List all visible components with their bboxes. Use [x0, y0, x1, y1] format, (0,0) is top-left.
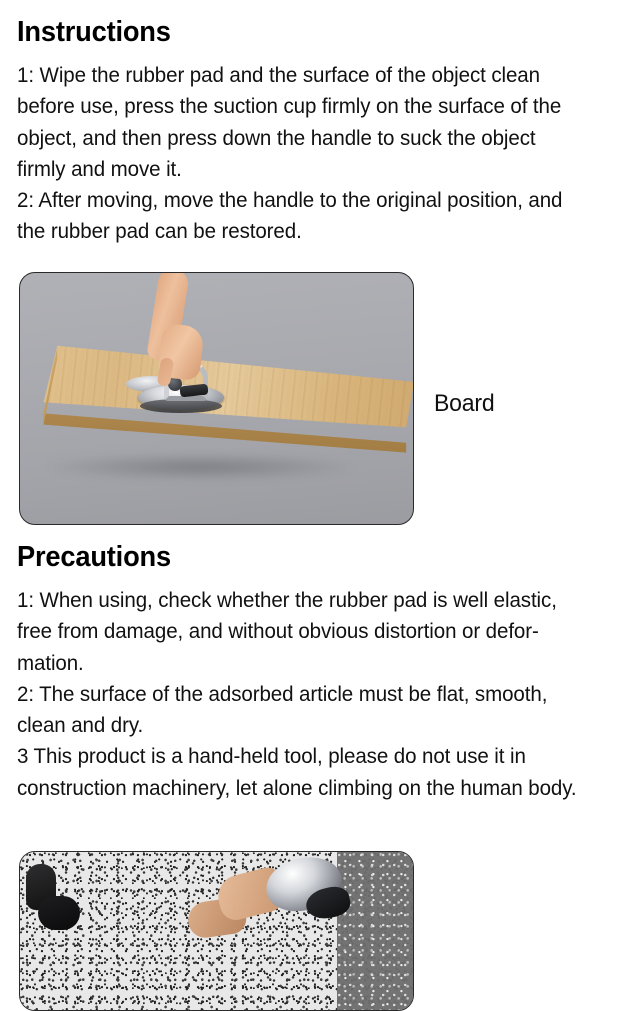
board-label: Board	[434, 392, 495, 416]
precautions-body: 1: When using, check whether the rubber …	[17, 585, 587, 804]
instructions-body: 1: Wipe the rubber pad and the surface o…	[17, 60, 587, 248]
precautions-item-1: 1: When using, check whether the rubber …	[17, 585, 587, 679]
instructions-step-1: 1: Wipe the rubber pad and the surface o…	[17, 60, 587, 185]
instructions-heading: Instructions	[17, 18, 171, 47]
board-photo-inner	[20, 273, 413, 524]
suction-cup-lifting-wooden-board-photo	[19, 272, 414, 525]
instructions-step-2: 2: After moving, move the handle to the …	[17, 185, 587, 248]
precautions-item-3: 3 This product is a hand-held tool, plea…	[17, 741, 587, 804]
precautions-heading: Precautions	[17, 543, 171, 572]
suction-cup-rubber-rim	[140, 399, 222, 413]
instruction-sheet-page: Instructions 1: Wipe the rubber pad and …	[0, 0, 620, 883]
precautions-item-2: 2: The surface of the adsorbed article m…	[17, 679, 587, 742]
board-shadow	[40, 453, 360, 481]
suction-cup-on-granite-photo	[19, 851, 414, 1011]
dark-object-left-lower	[38, 896, 80, 930]
granite-dark-band	[337, 852, 413, 1010]
